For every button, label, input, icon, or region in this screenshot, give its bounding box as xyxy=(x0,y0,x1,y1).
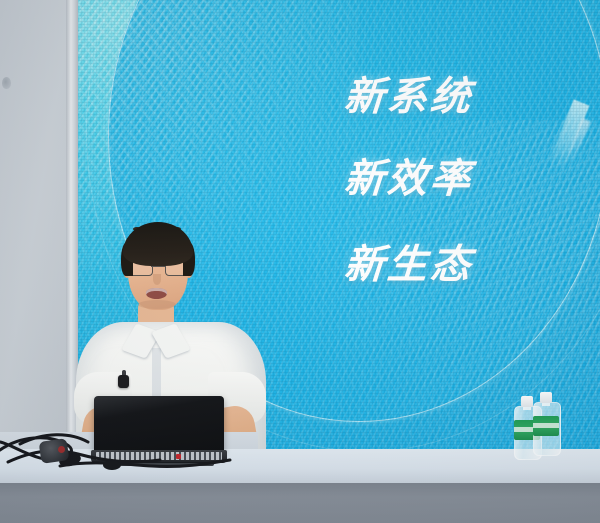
bottle-cap xyxy=(521,396,533,407)
bottle-cap xyxy=(540,392,552,403)
wall-mark xyxy=(2,77,11,89)
bottle-label-stripe xyxy=(533,423,559,428)
presenter-chin-shadow xyxy=(138,300,176,309)
presentation-scene: 新系统 新效率 新生态 xyxy=(0,0,600,523)
lapel-microphone-icon xyxy=(118,375,129,388)
water-bottle-2[interactable] xyxy=(533,392,559,454)
presenter-mouth xyxy=(146,288,167,299)
desk-device xyxy=(39,438,70,464)
table-front-panel xyxy=(0,483,600,523)
presenter-nose xyxy=(153,274,161,285)
desk-device-led-icon xyxy=(58,446,65,453)
